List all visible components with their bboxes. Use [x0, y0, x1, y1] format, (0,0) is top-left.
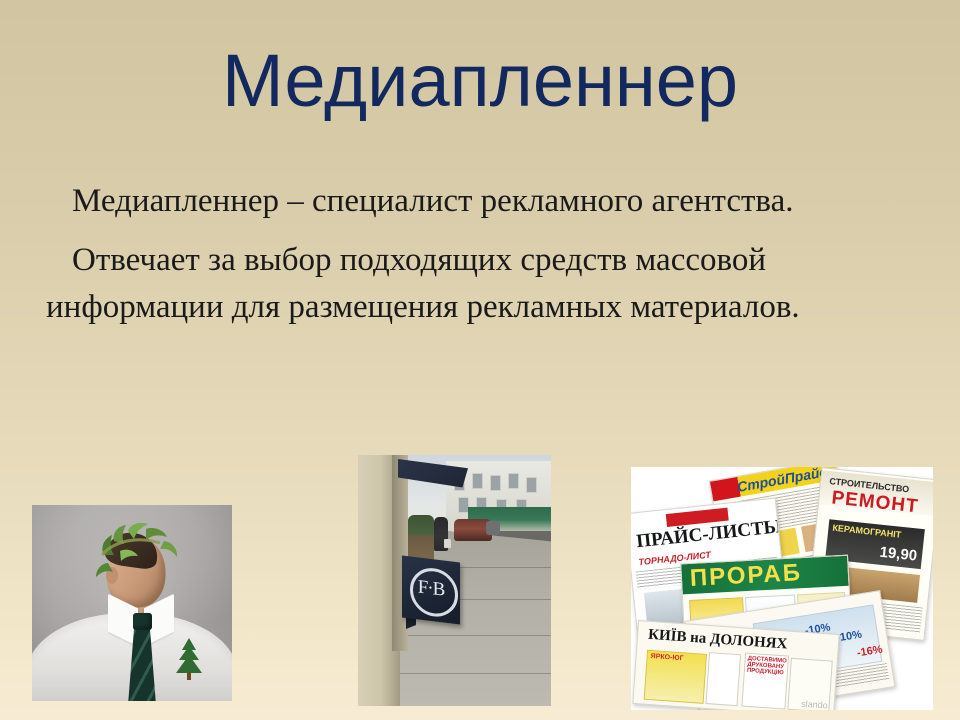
- planter-with-plant: [408, 515, 434, 561]
- watermark: slando: [801, 699, 828, 710]
- presentation-slide: Медиапленнер Медиапленнер – специалист р…: [0, 0, 960, 720]
- laurel-crown-icon: [90, 521, 182, 581]
- photo-street-with-sign: F·B: [358, 455, 551, 706]
- ad-block: [705, 652, 741, 706]
- ad-price: 19,90: [879, 544, 918, 565]
- pine-tree-icon: [174, 637, 204, 681]
- paragraph-definition: Медиапленнер – специалист рекламного аге…: [46, 178, 876, 225]
- newspaper-masthead: СТРОИТЕЛЬСТВО РЕМОНТ: [819, 470, 933, 516]
- photo-man-with-laurel-crown: [32, 505, 232, 701]
- ad-block-yarko-yug: ЯРКО-ЮГ: [644, 650, 707, 704]
- ad-headline: ДОСТАВИМО ДРУКОВАНУ ПРОДУКЦІЮ: [747, 656, 788, 677]
- ad-headline: КЕРАМОГРАНІТ: [832, 523, 902, 540]
- shopping-bag: [444, 539, 451, 548]
- slide-body-text: Медиапленнер – специалист рекламного аге…: [46, 178, 876, 331]
- ad-headline: ЯРКО-ЮГ: [650, 653, 683, 662]
- necktie-knot: [133, 613, 152, 630]
- newspaper-title: ПРОРАБ: [689, 561, 802, 591]
- second-car: [486, 521, 500, 535]
- photo-advertising-newspapers: СтройПрайс СТРОИТЕЛЬСТВО РЕМОНТ КЕРАМОГР…: [631, 467, 933, 710]
- a-board-advertising-sign: F·B: [402, 555, 460, 624]
- newspaper-kyiv-na-dolonyah: КИЇВ на ДОЛОНЯХ ЯРКО-ЮГ ДОСТАВИМО ДРУКОВ…: [632, 620, 839, 710]
- ad-block-delivery: ДОСТАВИМО ДРУКОВАНУ ПРОДУКЦІЮ: [741, 653, 789, 710]
- sign-text: F·B: [402, 567, 460, 610]
- newspaper-masthead: ПРОРАБ: [681, 556, 848, 595]
- page-title: Медиапленнер: [0, 38, 960, 124]
- paragraph-responsibility: Отвечает за выбор подходящих средств мас…: [46, 237, 876, 331]
- newspaper-title: КИЇВ на ДОЛОНЯХ: [648, 628, 788, 653]
